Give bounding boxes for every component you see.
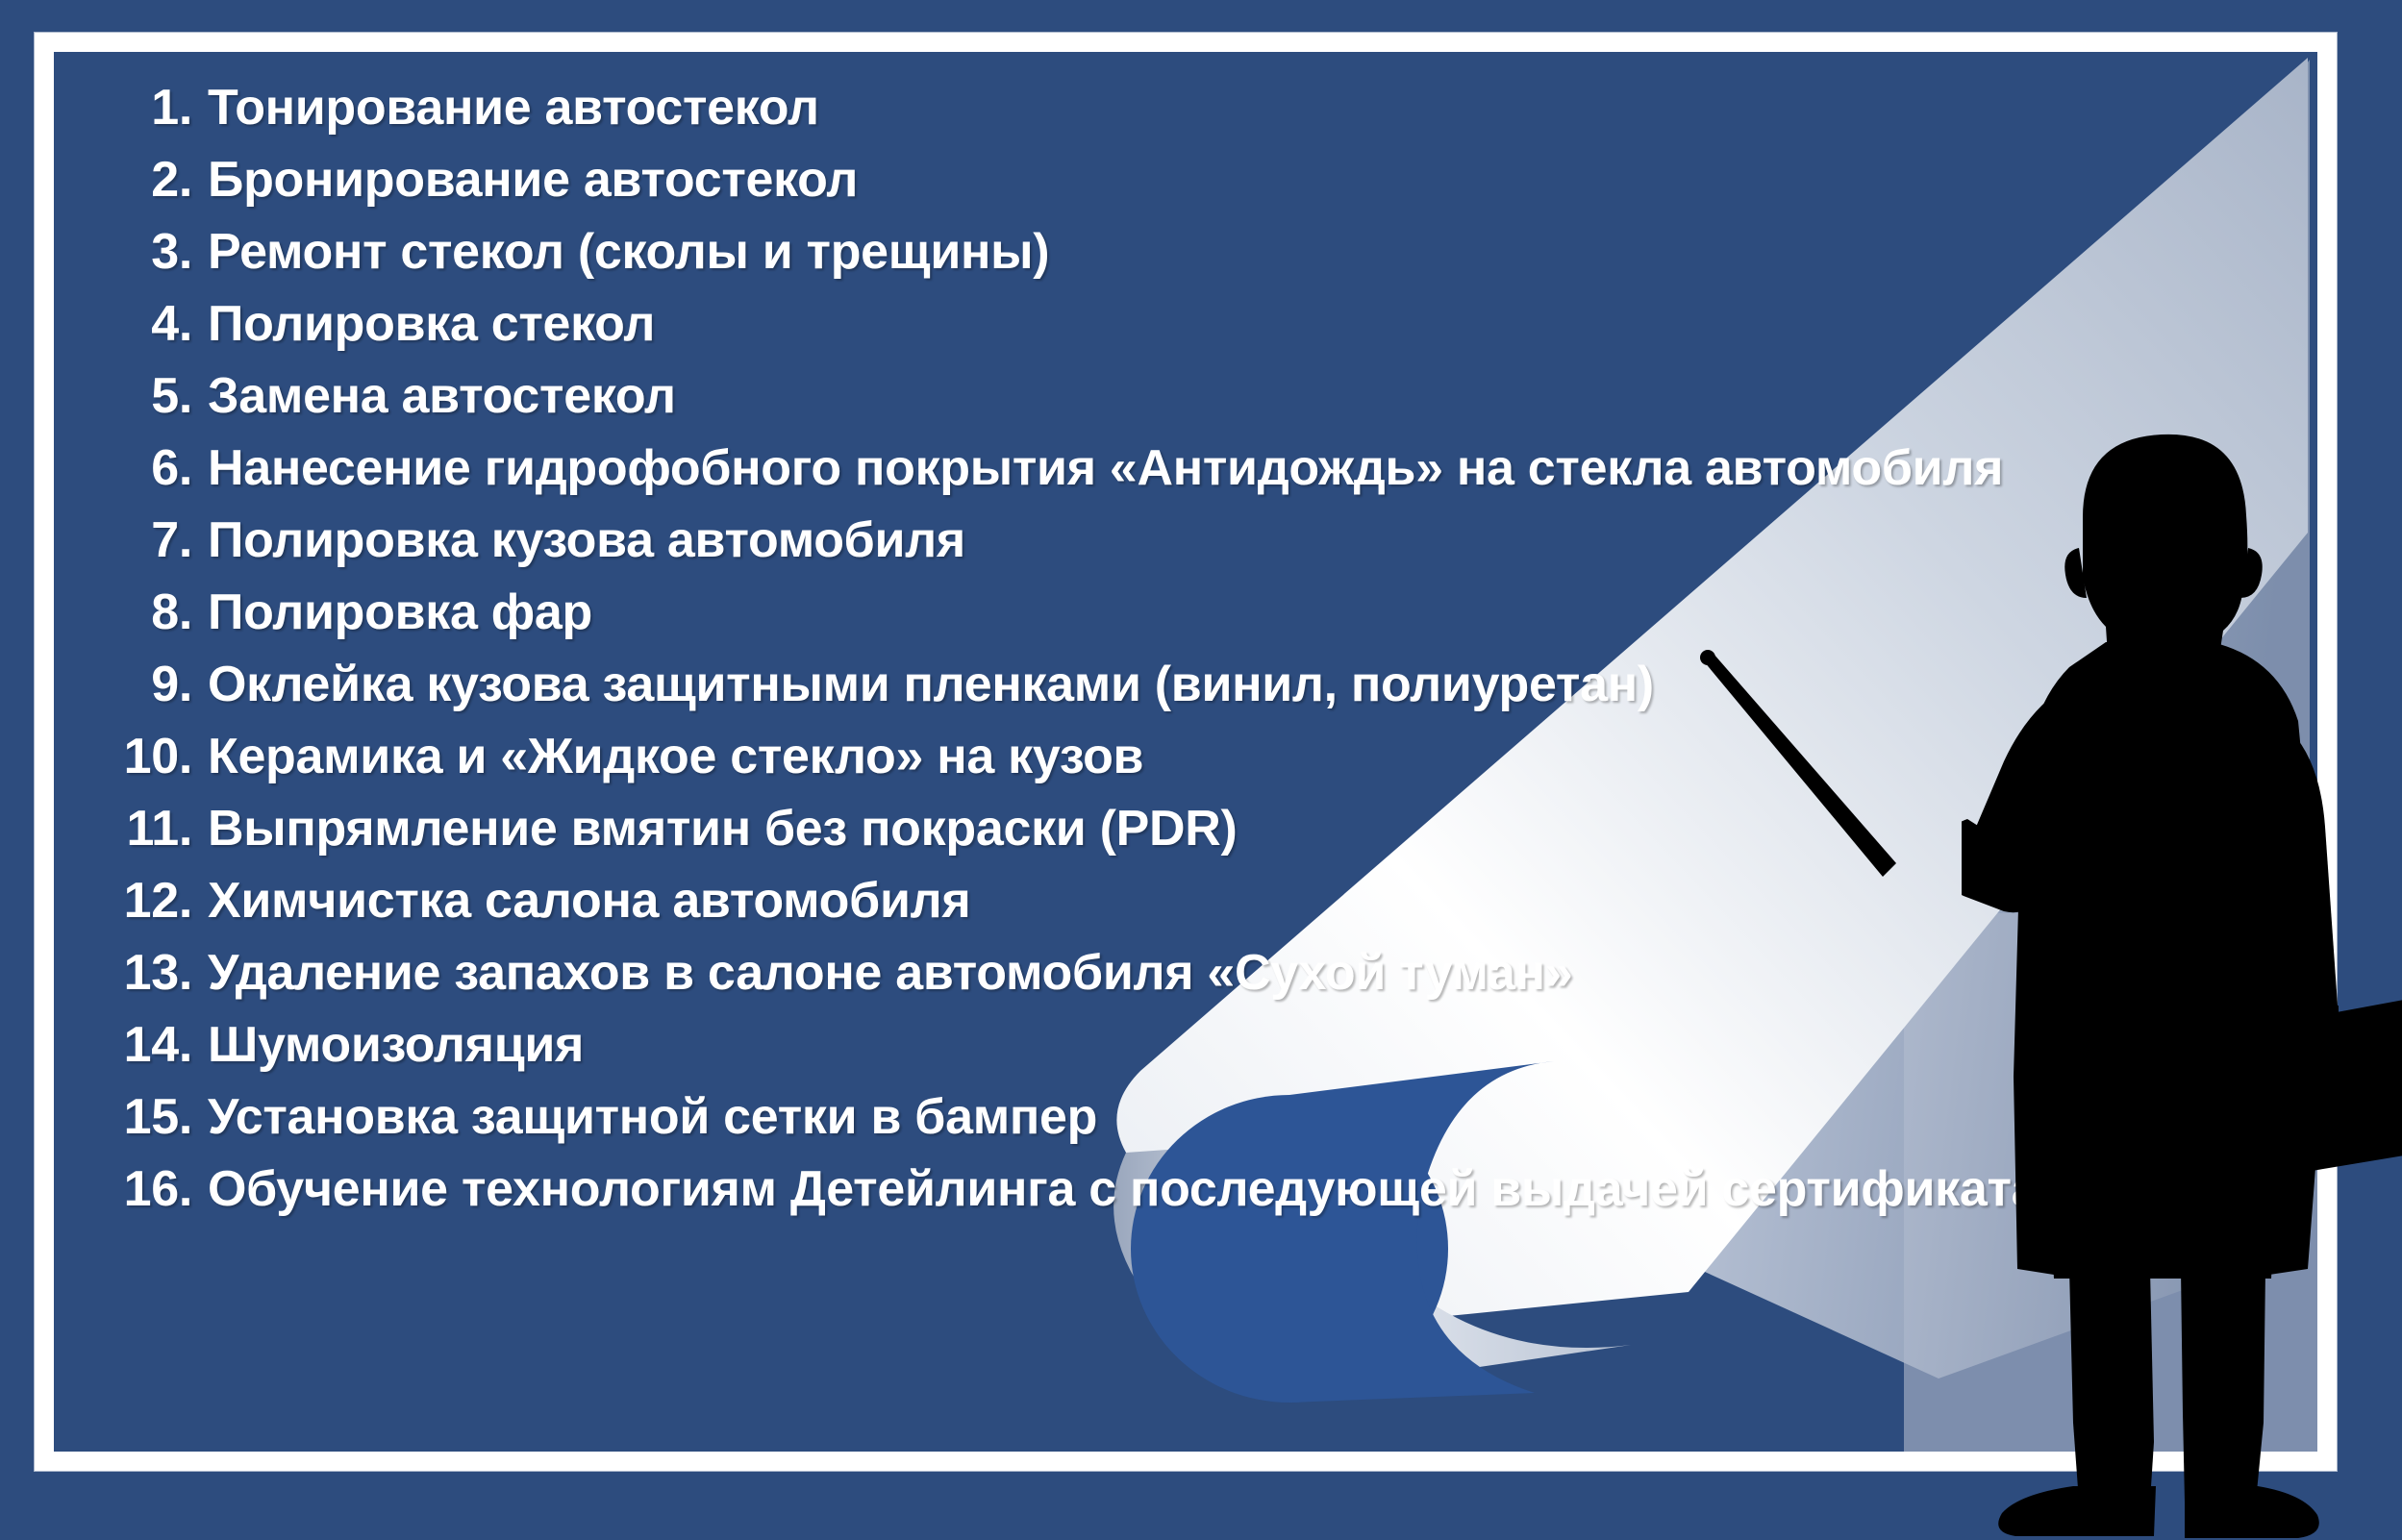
list-item-number: 1. [54, 79, 208, 137]
list-item-number: 7. [54, 511, 208, 569]
list-item-number: 8. [54, 584, 208, 641]
list-item-number: 16. [54, 1160, 208, 1218]
list-item-label: Обучение технологиям Детейлинга с послед… [208, 1160, 2039, 1218]
list-item-number: 14. [54, 1016, 208, 1074]
list-item: 4. Полировка стекол [54, 295, 2006, 367]
list-item-number: 15. [54, 1088, 208, 1146]
list-item-label: Замена автостекол [208, 367, 2006, 425]
list-item-number: 5. [54, 367, 208, 425]
list-item-number: 4. [54, 295, 208, 353]
list-item: 2. Бронирование автостекол [54, 151, 2006, 223]
list-item: 7. Полировка кузова автомобиля [54, 511, 2006, 584]
list-item-label: Ремонт стекол (сколы и трещины) [208, 223, 2006, 281]
list-item-label: Тонирование автостекол [208, 79, 2006, 137]
list-item-number: 12. [54, 872, 208, 930]
list-item-number: 9. [54, 656, 208, 713]
list-item-label: Полировка кузова автомобиля [208, 511, 2006, 569]
presenter-silhouette [1962, 404, 2402, 1540]
list-item-number: 11. [54, 800, 208, 857]
poster-root: 1. Тонирование автостекол 2. Бронировани… [0, 0, 2402, 1540]
list-item-number: 2. [54, 151, 208, 209]
list-item: 3. Ремонт стекол (сколы и трещины) [54, 223, 2006, 295]
list-item-label: Нанесение гидрофобного покрытия «Антидож… [208, 439, 2006, 497]
list-item: 5. Замена автостекол [54, 367, 2006, 439]
list-item: 1. Тонирование автостекол [54, 79, 2006, 151]
list-item: 15. Установка защитной сетки в бампер [54, 1088, 2006, 1160]
list-item-number: 10. [54, 728, 208, 785]
list-item-label: Установка защитной сетки в бампер [208, 1088, 2006, 1146]
list-item-number: 3. [54, 223, 208, 281]
list-item-label: Бронирование автостекол [208, 151, 2006, 209]
list-item: 6. Нанесение гидрофобного покрытия «Анти… [54, 439, 2006, 511]
list-item-number: 13. [54, 944, 208, 1002]
list-item: 16. Обучение технологиям Детейлинга с по… [54, 1160, 2006, 1232]
list-item-label: Полировка стекол [208, 295, 2006, 353]
list-item-number: 6. [54, 439, 208, 497]
